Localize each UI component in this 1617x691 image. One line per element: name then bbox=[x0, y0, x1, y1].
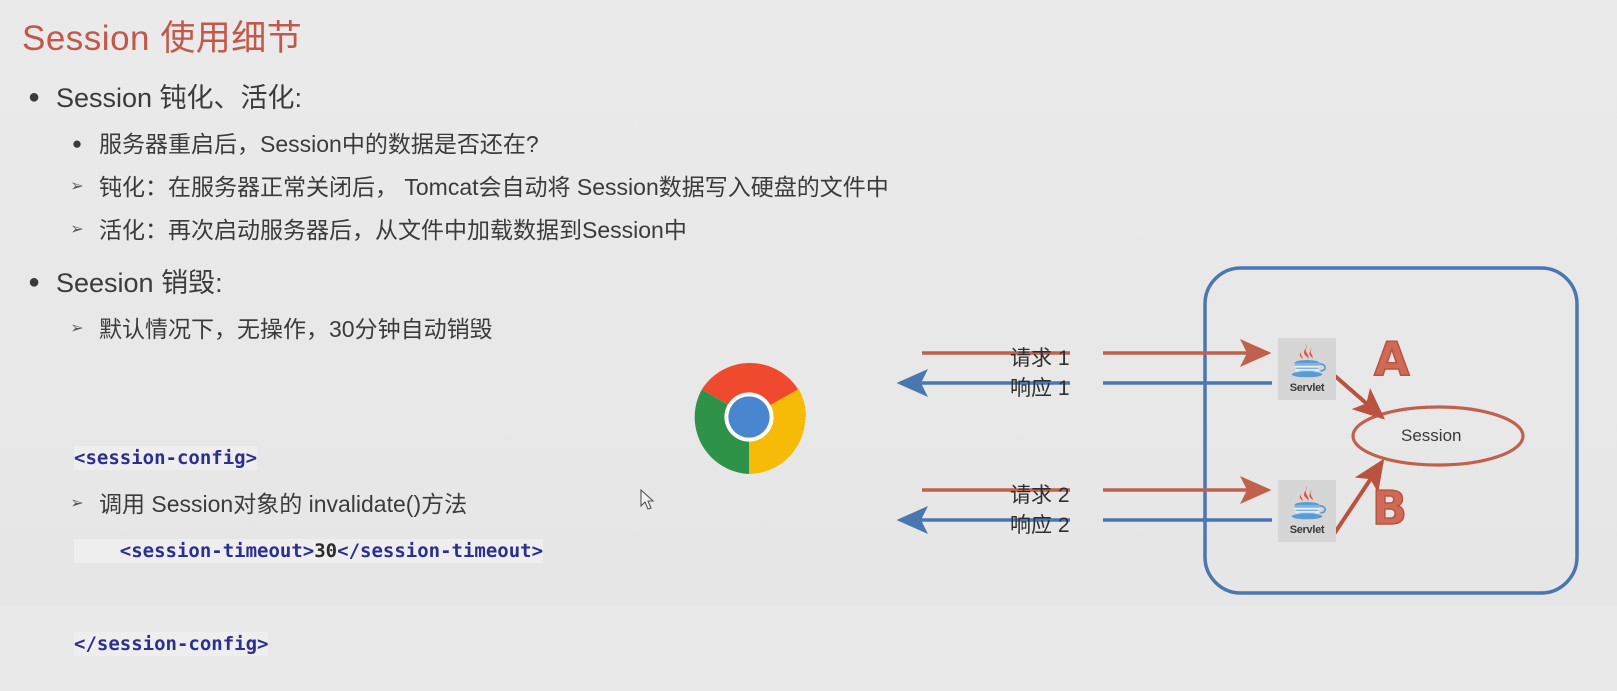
java-icon bbox=[1284, 338, 1330, 384]
session-flow-diagram: 请求 1 响应 1 请求 2 响应 2 Servlet bbox=[860, 250, 1617, 605]
code-token-session-timeout-close: </session-timeout> bbox=[337, 539, 543, 563]
flow-label-request-2: 请求 2 bbox=[1010, 479, 1070, 509]
code-line: <session-config> bbox=[74, 443, 543, 474]
list-item-label: 服务器重启后，Session中的数据是否还在? bbox=[99, 128, 539, 161]
list-item: ➢ 钝化：在服务器正常关闭后， Tomcat会自动将 Session数据写入硬盘… bbox=[0, 171, 680, 204]
code-token-session-config-close: </session-config> bbox=[74, 632, 268, 656]
list-item-label: 默认情况下，无操作，30分钟自动销毁 bbox=[99, 313, 493, 346]
page-title: Session 使用细节 bbox=[22, 10, 302, 61]
java-icon bbox=[1284, 480, 1330, 526]
code-token-session-config-open: <session-config> bbox=[74, 446, 257, 470]
annotation-letter-b: B bbox=[1372, 481, 1407, 535]
code-snippet: <session-config> <session-timeout>30</se… bbox=[74, 381, 543, 691]
list-item: ➢ 调用 Session对象的 invalidate()方法 bbox=[0, 488, 467, 521]
bullet-marker-icon: ● bbox=[55, 128, 99, 160]
list-item-label: 钝化：在服务器正常关闭后， Tomcat会自动将 Session数据写入硬盘的文… bbox=[99, 171, 889, 204]
bullet-marker-icon: ● bbox=[12, 80, 56, 114]
list-item: ● 服务器重启后，Session中的数据是否还在? bbox=[0, 128, 680, 161]
mouse-pointer-icon bbox=[640, 489, 656, 511]
list-item: ➢ 活化：再次启动服务器后，从文件中加载数据到Session中 bbox=[0, 214, 680, 247]
chrome-logo-icon bbox=[690, 358, 808, 476]
annotation-letter-a: A bbox=[1374, 332, 1410, 386]
flow-label-request-1: 请求 1 bbox=[1010, 342, 1070, 372]
list-item: ➢ 默认情况下，无操作，30分钟自动销毁 bbox=[0, 313, 680, 346]
arrow-bullet-icon: ➢ bbox=[55, 488, 99, 520]
code-token-timeout-value: 30 bbox=[314, 539, 337, 563]
list-item: ● Seesion 销毁: bbox=[0, 265, 680, 301]
servlet-node-b: Servlet bbox=[1278, 480, 1336, 542]
servlet-node-a: Servlet bbox=[1278, 338, 1336, 400]
list-item-label: Session 钝化、活化: bbox=[56, 80, 302, 116]
list-item: ● Session 钝化、活化: bbox=[0, 80, 680, 116]
list-item-label: 调用 Session对象的 invalidate()方法 bbox=[99, 488, 467, 521]
code-line: </session-config> bbox=[74, 629, 543, 660]
arrow-bullet-icon: ➢ bbox=[55, 313, 99, 345]
list-item-label: 活化：再次启动服务器后，从文件中加载数据到Session中 bbox=[99, 214, 687, 247]
servlet-label: Servlet bbox=[1290, 382, 1325, 394]
list-item-label: Seesion 销毁: bbox=[56, 265, 223, 301]
code-line: <session-timeout>30</session-timeout> bbox=[74, 536, 543, 567]
bullet-marker-icon: ● bbox=[12, 265, 56, 299]
session-node-label: Session bbox=[1401, 426, 1461, 446]
servlet-label: Servlet bbox=[1290, 524, 1325, 536]
flow-label-response-2: 响应 2 bbox=[1010, 509, 1070, 539]
outline-list: ● Session 钝化、活化: ● 服务器重启后，Session中的数据是否还… bbox=[0, 80, 680, 350]
flow-label-response-1: 响应 1 bbox=[1010, 372, 1070, 402]
arrow-bullet-icon: ➢ bbox=[55, 171, 99, 203]
arrow-bullet-icon: ➢ bbox=[55, 214, 99, 246]
code-token-session-timeout-open: <session-timeout> bbox=[120, 539, 314, 563]
